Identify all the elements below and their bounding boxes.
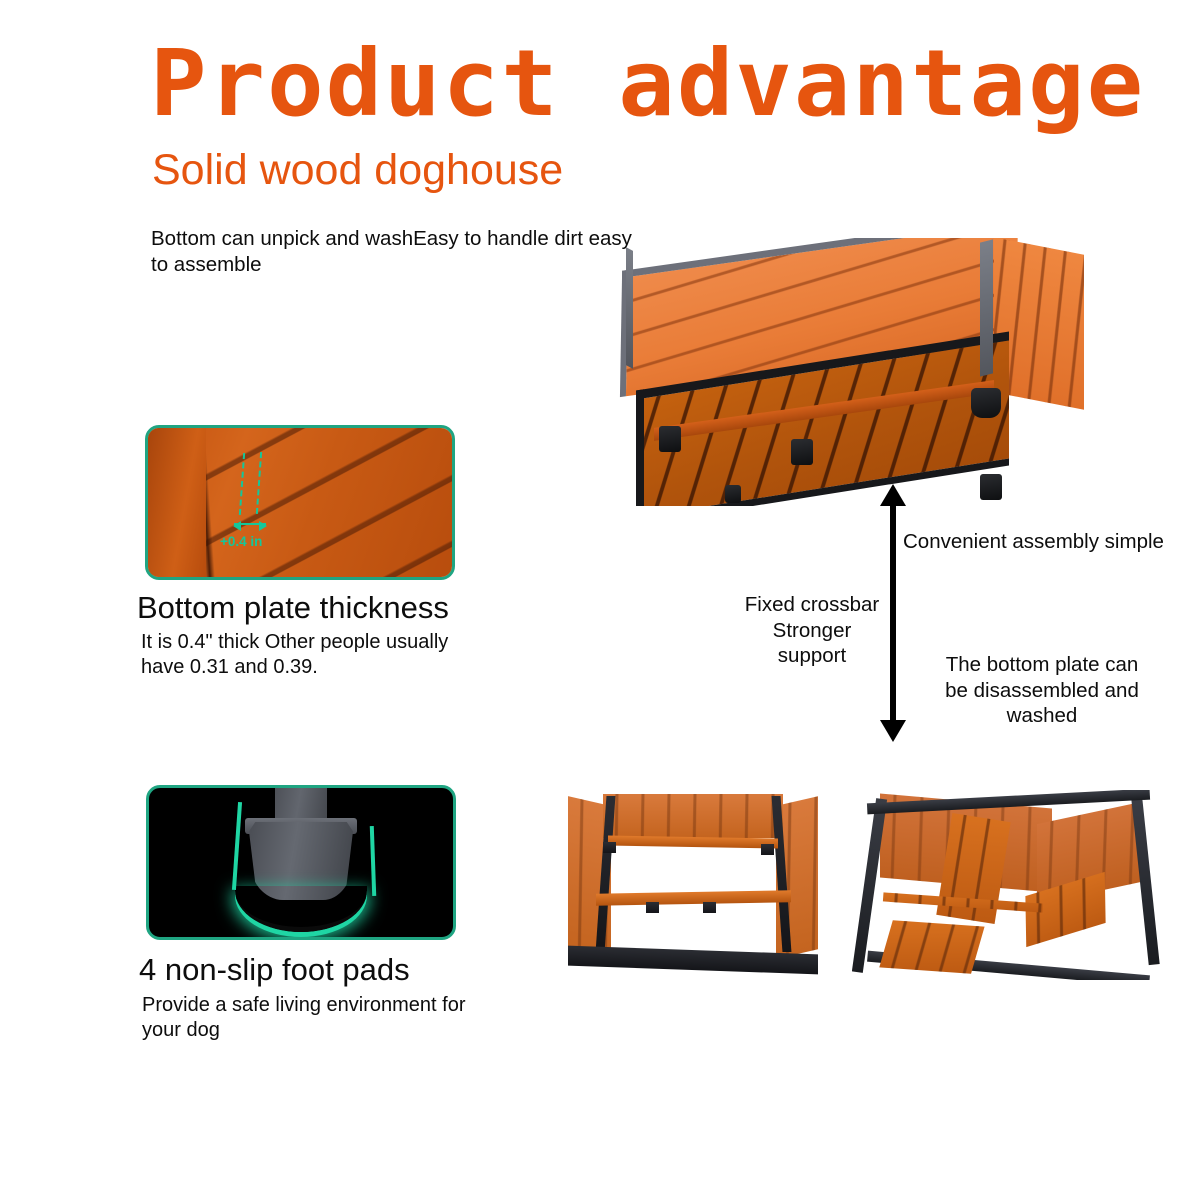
wood-edge-board [148, 428, 206, 577]
doghouse-foot-1 [659, 426, 681, 452]
note-bottom-plate: The bottom plate can be disassembled and… [908, 652, 1176, 729]
arrow-head-down-icon [880, 720, 906, 742]
doghouse-foot-2 [791, 439, 813, 465]
heading-bottom-plate-thickness: Bottom plate thickness [137, 590, 449, 626]
photo-doghouse-underside [612, 238, 1084, 506]
interior-wall-back [603, 794, 783, 839]
body-bottom-plate-thickness: It is 0.4" thick Other people usually ha… [141, 630, 471, 680]
note-convenient-assembly: Convenient assembly simple [903, 529, 1164, 555]
infographic-page: Product advantage Solid wood doghouse Bo… [0, 0, 1200, 1200]
page-title: Product advantage [150, 38, 1145, 130]
interior-bracket-4 [703, 902, 716, 913]
doghouse-rail-left [626, 247, 633, 369]
interior-crossbar-middle [596, 891, 791, 906]
interior-bracket-3 [646, 902, 659, 913]
interior-bracket-1 [603, 842, 616, 853]
heading-non-slip-foot-pads: 4 non-slip foot pads [139, 952, 410, 988]
measure-label: +0.4 in [220, 534, 262, 549]
plates-frame-left [852, 798, 887, 973]
doghouse-foot-3 [971, 388, 1001, 418]
doghouse-foot-4 [980, 474, 1002, 500]
doghouse-rail-right [980, 239, 993, 376]
note-fixed-crossbar: Fixed crossbar Stronger support [737, 592, 887, 669]
page-subtitle: Solid wood doghouse [152, 148, 563, 193]
foot-pad-glow-arc [235, 886, 367, 932]
card-image-non-slip-foot-pad [146, 785, 456, 940]
interior-bracket-2 [761, 844, 774, 855]
measure-arrow-icon [234, 523, 266, 525]
card-image-bottom-plate-thickness: +0.4 in [145, 425, 455, 580]
foot-pad-tick-left [232, 802, 242, 890]
plate-removable-3 [879, 920, 985, 973]
photo-doghouse-interior [568, 790, 818, 976]
doghouse-foot-5 [725, 485, 741, 503]
foot-pad-tick-right [370, 826, 376, 896]
photo-doghouse-bottom-plates [852, 790, 1160, 980]
body-non-slip-foot-pads: Provide a safe living environment for yo… [142, 993, 482, 1043]
intro-text: Bottom can unpick and washEasy to handle… [151, 226, 641, 278]
arrow-shaft [890, 502, 896, 724]
